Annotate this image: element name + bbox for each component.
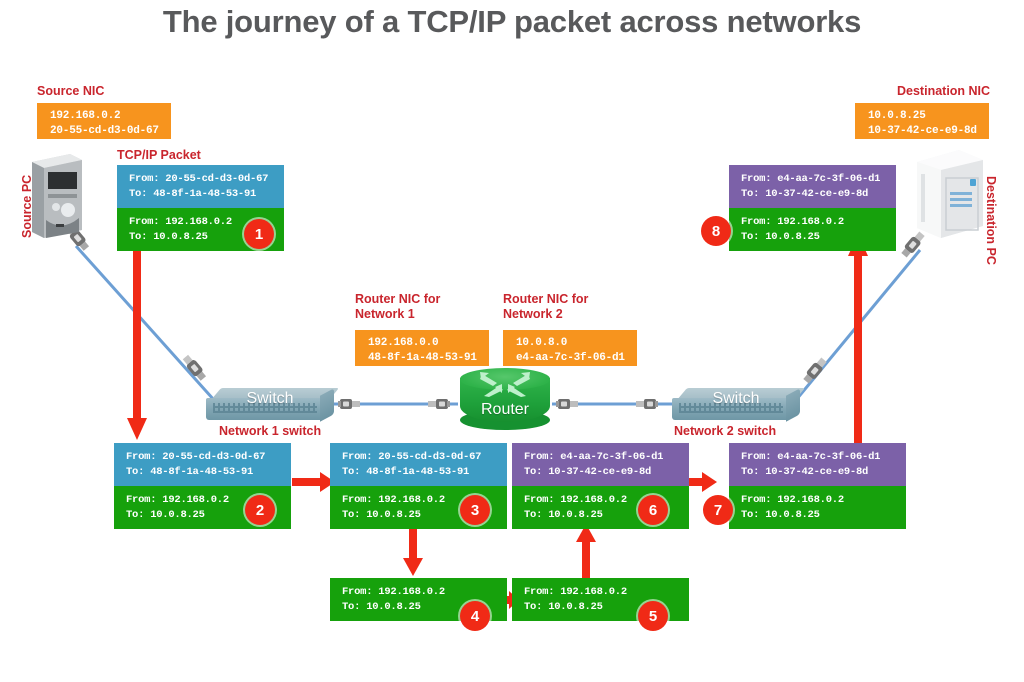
network-2-switch-label: Network 2 switch bbox=[674, 424, 776, 439]
ethernet-plug-icon bbox=[556, 396, 582, 412]
switch-label: Switch bbox=[206, 390, 334, 408]
step-badge-3: 3 bbox=[460, 495, 490, 525]
network-1-switch-label: Network 1 switch bbox=[219, 424, 321, 439]
switch-label: Switch bbox=[672, 390, 800, 408]
arrow-step1-to-step2 bbox=[125, 236, 149, 442]
step-badge-2: 2 bbox=[245, 495, 275, 525]
step-badge-6: 6 bbox=[638, 495, 668, 525]
router-icon: Router bbox=[460, 368, 550, 430]
packet-mac-header: From: e4-aa-7c-3f-06-d1 To: 10-37-42-ce-… bbox=[512, 443, 689, 486]
packet-ip-header: From: 192.168.0.2 To: 10.0.8.25 bbox=[729, 486, 906, 529]
router-nic-network-1-label: Router NIC for Network 1 bbox=[355, 292, 440, 322]
packet-ip-header: From: 192.168.0.2 To: 10.0.8.25 bbox=[729, 208, 896, 251]
packet-mac-header: From: 20-55-cd-d3-0d-67 To: 48-8f-1a-48-… bbox=[330, 443, 507, 486]
ethernet-plug-icon bbox=[632, 396, 658, 412]
router-arrows-icon bbox=[480, 372, 530, 398]
packet-mac-header: From: e4-aa-7c-3f-06-d1 To: 10-37-42-ce-… bbox=[729, 443, 906, 486]
packet-box-8: From: e4-aa-7c-3f-06-d1 To: 10-37-42-ce-… bbox=[729, 165, 896, 251]
network-switch-icon-2: Switch bbox=[672, 388, 800, 422]
packet-mac-header: From: 20-55-cd-d3-0d-67 To: 48-8f-1a-48-… bbox=[117, 165, 284, 208]
destination-nic-label: Destination NIC bbox=[897, 84, 990, 99]
source-nic-label: Source NIC bbox=[37, 84, 104, 99]
router-nic-network-2-label: Router NIC for Network 2 bbox=[503, 292, 588, 322]
source-nic-box: 192.168.0.2 20-55-cd-d3-0d-67 bbox=[37, 103, 171, 139]
packet-mac-header: From: 20-55-cd-d3-0d-67 To: 48-8f-1a-48-… bbox=[114, 443, 291, 486]
destination-pc-label: Destination PC bbox=[984, 176, 998, 265]
tcpip-packet-label: TCP/IP Packet bbox=[117, 148, 201, 163]
router-nic-network-2-box: 10.0.8.0 e4-aa-7c-3f-06-d1 bbox=[503, 330, 637, 366]
arrow-step5-to-step6 bbox=[575, 522, 597, 578]
destination-pc-icon bbox=[915, 148, 985, 240]
router-nic-network-1-box: 192.168.0.0 48-8f-1a-48-53-91 bbox=[355, 330, 489, 366]
ethernet-plug-icon bbox=[424, 396, 450, 412]
step-badge-1: 1 bbox=[244, 219, 274, 249]
source-pc-label: Source PC bbox=[20, 175, 34, 238]
destination-nic-box: 10.0.8.25 10-37-42-ce-e9-8d bbox=[855, 103, 989, 139]
step-badge-5: 5 bbox=[638, 601, 668, 631]
arrow-step7-to-step8 bbox=[846, 232, 870, 444]
ethernet-plug-icon bbox=[338, 396, 364, 412]
step-badge-8: 8 bbox=[701, 216, 731, 246]
source-pc-icon bbox=[26, 152, 84, 238]
step-badge-4: 4 bbox=[460, 601, 490, 631]
router-label: Router bbox=[460, 401, 550, 419]
packet-box-7: From: e4-aa-7c-3f-06-d1 To: 10-37-42-ce-… bbox=[729, 443, 906, 529]
step-badge-7: 7 bbox=[703, 495, 733, 525]
packet-mac-header: From: e4-aa-7c-3f-06-d1 To: 10-37-42-ce-… bbox=[729, 165, 896, 208]
network-switch-icon-1: Switch bbox=[206, 388, 334, 422]
diagram-canvas: The journey of a TCP/IP packet across ne… bbox=[0, 0, 1024, 682]
arrow-step3-to-step4 bbox=[402, 524, 424, 578]
